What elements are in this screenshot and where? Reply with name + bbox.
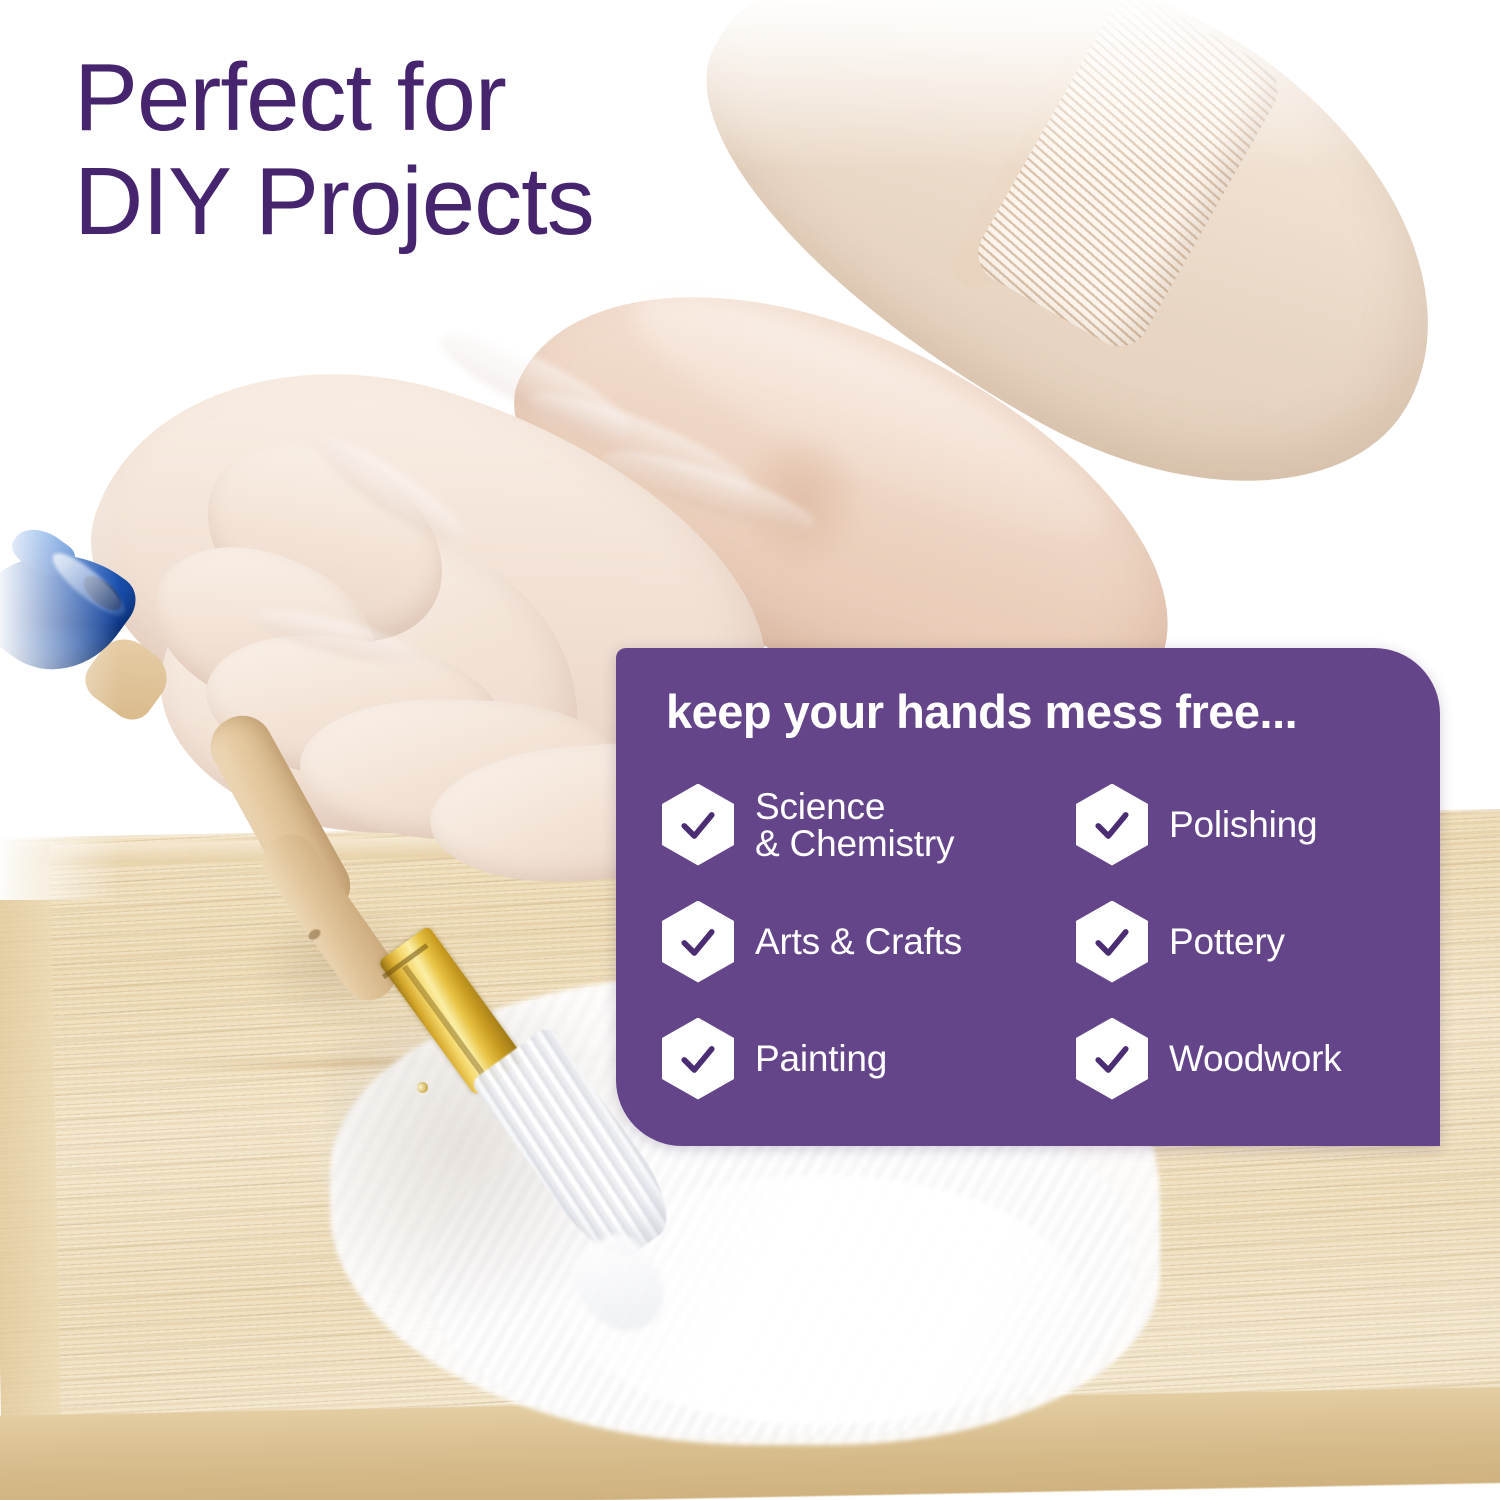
feature-item-pottery: Pottery [1076, 901, 1398, 983]
check-icon [1076, 901, 1148, 983]
check-icon [1076, 784, 1148, 866]
check-icon [662, 1018, 734, 1100]
check-icon [1076, 1018, 1148, 1100]
feature-label: Pottery [1169, 923, 1285, 960]
feature-item-painting: Painting [662, 1018, 1076, 1100]
headline-line-1: Perfect for [74, 46, 714, 150]
feature-label: Polishing [1169, 806, 1317, 843]
features-panel: keep your hands mess free... Science & C… [616, 648, 1440, 1146]
feature-item-arts-crafts: Arts & Crafts [662, 901, 1076, 983]
page-title: Perfect for DIY Projects [74, 46, 714, 253]
check-icon [662, 901, 734, 983]
feature-item-polishing: Polishing [1076, 784, 1398, 866]
product-infographic: Perfect for DIY Projects keep your hands… [0, 0, 1500, 1500]
feature-label: Science & Chemistry [755, 788, 954, 862]
feature-list: Science & Chemistry Polishing Arts & Cra… [662, 766, 1398, 1118]
feature-label: Painting [755, 1040, 887, 1077]
feature-item-science-chemistry: Science & Chemistry [662, 784, 1076, 866]
feature-label: Woodwork [1169, 1040, 1342, 1077]
panel-title: keep your hands mess free... [666, 684, 1297, 739]
headline-line-2: DIY Projects [74, 150, 714, 254]
check-icon [662, 784, 734, 866]
feature-label: Arts & Crafts [755, 923, 962, 960]
feature-item-woodwork: Woodwork [1076, 1018, 1398, 1100]
